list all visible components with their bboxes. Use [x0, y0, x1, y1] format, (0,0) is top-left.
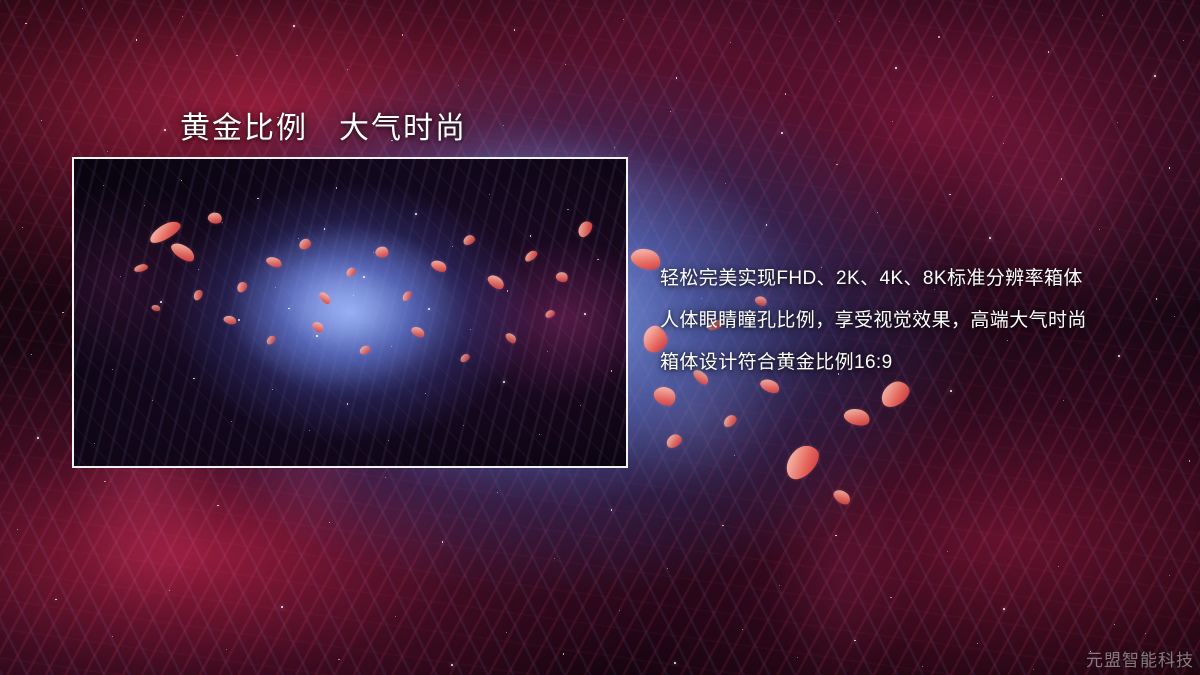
presentation-slide: 黄金比例 大气时尚 轻松完美实现FHD、2K、4K、8K标准分辨率箱体 人体眼睛… [0, 0, 1200, 675]
body-line-2: 人体眼睛瞳孔比例，享受视觉效果，高端大气时尚 [660, 300, 1180, 342]
body-line-1: 轻松完美实现FHD、2K、4K、8K标准分辨率箱体 [660, 258, 1180, 300]
page-title: 黄金比例 大气时尚 [180, 103, 467, 147]
framed-image-content [74, 159, 626, 466]
framed-image-panel [72, 157, 628, 468]
body-line-3: 箱体设计符合黄金比例16:9 [660, 342, 1180, 384]
framed-nebula-filaments [74, 159, 626, 466]
body-text-block: 轻松完美实现FHD、2K、4K、8K标准分辨率箱体 人体眼睛瞳孔比例，享受视觉效… [660, 258, 1180, 384]
watermark-label: 元盟智能科技 [1086, 646, 1194, 671]
